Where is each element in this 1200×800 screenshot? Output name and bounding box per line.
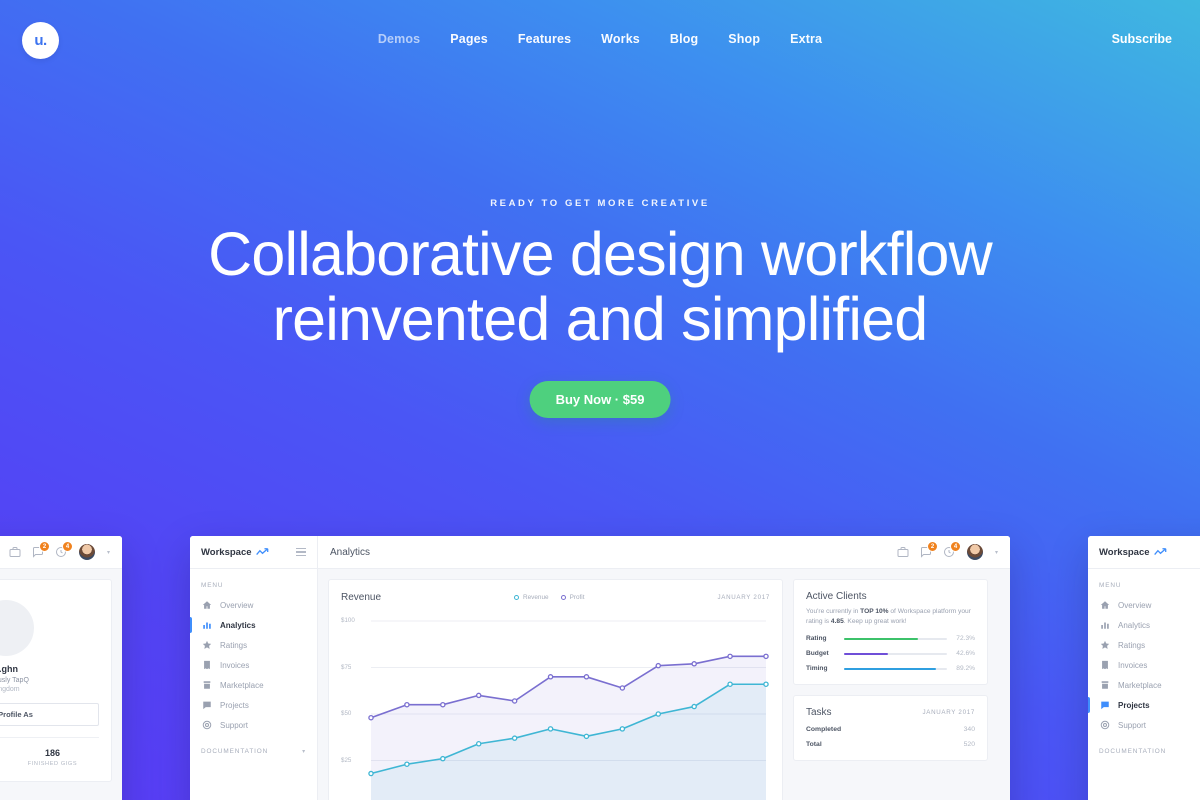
store-icon (201, 680, 212, 691)
bar-chart-icon (1099, 620, 1110, 631)
sidebar-right-section-documentation[interactable]: DOCUMENTATION ▾ (1088, 735, 1200, 761)
legend-profit-label: Profit (570, 594, 585, 601)
page-title: Collaborative design workflow reinvented… (0, 222, 1200, 353)
dashboard-mock-right: Workspace MENU Overview Analytics Rating… (1088, 536, 1200, 800)
revenue-chart-title: Revenue (341, 592, 381, 603)
metric-fill-timing (844, 668, 936, 671)
tasks-date: JANUARY 2017 (922, 709, 975, 716)
invoice-icon (201, 660, 212, 671)
revenue-line-chart: $25$50$75$100 (341, 613, 772, 800)
sidebar-item-marketplace-label: Marketplace (1118, 681, 1162, 690)
active-clients-title: Active Clients (806, 591, 975, 602)
sidebar-item-projects-label: Projects (1118, 701, 1150, 710)
dashboard-page-title: Analytics (330, 547, 370, 558)
lifebuoy-icon (201, 720, 212, 731)
tasks-header: Tasks JANUARY 2017 (806, 707, 975, 718)
tasks-value-total: 520 (964, 741, 975, 748)
sidebar-header: Workspace (190, 536, 317, 569)
left-mock-header: 2 4 ▾ (0, 536, 122, 569)
metric-label-rating: Rating (806, 635, 838, 642)
desc-post: . Keep up great work! (844, 618, 907, 625)
tasks-row-total: Total 520 (806, 741, 975, 748)
metric-fill-rating (844, 638, 918, 641)
nav-item-pages[interactable]: Pages (450, 32, 488, 46)
profile-stats: 4 NTS 186 FINISHED GIGS (0, 737, 99, 767)
sidebar-item-invoices[interactable]: Invoices (190, 655, 317, 675)
y-axis-tick-100: $100 (341, 617, 355, 624)
sidebar-item-overview[interactable]: Overview (190, 595, 317, 615)
sidebar-item-invoices-label: Invoices (220, 661, 249, 670)
sidebar-item-projects-label: Projects (220, 701, 249, 710)
messages-badge: 2 (927, 541, 938, 552)
y-axis-tick-75: $75 (341, 664, 351, 671)
avatar[interactable] (78, 543, 96, 561)
sidebar-item-support[interactable]: Support (1088, 715, 1200, 735)
nav-item-demos[interactable]: Demos (378, 32, 420, 46)
sidebar-item-invoices-label: Invoices (1118, 661, 1147, 670)
legend-dot-profit (561, 595, 566, 600)
metric-row-rating: Rating 72.3% (806, 635, 975, 642)
sidebar-item-ratings[interactable]: Ratings (190, 635, 317, 655)
nav-item-extra[interactable]: Extra (790, 32, 822, 46)
chevron-down-icon: ▾ (302, 748, 306, 755)
chevron-down-icon[interactable]: ▾ (995, 549, 998, 556)
sidebar-item-ratings-label: Ratings (1118, 641, 1145, 650)
tasks-label-completed: Completed (806, 726, 841, 733)
sidebar-item-invoices[interactable]: Invoices (1088, 655, 1200, 675)
sidebar-right-section-menu: MENU (1088, 569, 1200, 595)
buy-now-button[interactable]: Buy Now · $59 (530, 381, 671, 418)
desc-rating: 4.85 (831, 618, 844, 625)
hamburger-menu-icon[interactable] (296, 548, 306, 556)
briefcase-icon[interactable] (9, 546, 21, 558)
dashboard-header: Analytics 2 4 ▾ (318, 536, 1010, 569)
profile-subtitle: ...viously TapQ (0, 677, 99, 684)
metric-label-timing: Timing (806, 665, 838, 672)
store-icon (1099, 680, 1110, 691)
home-icon (201, 600, 212, 611)
sidebar-section-documentation[interactable]: DOCUMENTATION ▾ (190, 735, 317, 761)
nav-item-shop[interactable]: Shop (728, 32, 760, 46)
sidebar-item-overview-label: Overview (1118, 601, 1151, 610)
profile-stat-gigs: 186 FINISHED GIGS (6, 748, 99, 767)
left-mock-header-actions: 2 4 ▾ (9, 543, 110, 561)
trend-up-icon (256, 548, 269, 556)
nav-item-works[interactable]: Works (601, 32, 640, 46)
workspace-brand[interactable]: Workspace (201, 547, 269, 558)
top-navigation-bar: u. Demos Pages Features Works Blog Shop … (0, 0, 1200, 82)
metric-value-budget: 42.6% (953, 650, 975, 657)
dashboard-content: Revenue Revenue Profit JANUARY 2017 (318, 569, 1010, 800)
sidebar-item-overview[interactable]: Overview (1088, 595, 1200, 615)
y-axis-tick-25: $25 (341, 757, 351, 764)
sidebar-right: Workspace MENU Overview Analytics Rating… (1088, 536, 1200, 800)
desc-pre: You're currently in (806, 608, 860, 615)
metric-value-rating: 72.3% (953, 635, 975, 642)
sidebar-item-analytics[interactable]: Analytics (190, 615, 317, 635)
legend-profit[interactable]: Profit (561, 594, 585, 601)
legend-dot-revenue (514, 595, 519, 600)
avatar[interactable] (966, 543, 984, 561)
headline-line-1: Collaborative design workflow (208, 220, 992, 288)
messages-badge: 2 (39, 541, 50, 552)
tasks-title: Tasks (806, 707, 832, 718)
messages-icon[interactable]: 2 (920, 546, 932, 558)
revenue-chart-date: JANUARY 2017 (717, 594, 770, 601)
sidebar-right-section-documentation-label: DOCUMENTATION (1099, 748, 1166, 755)
active-clients-card: Active Clients You're currently in TOP 1… (793, 579, 988, 685)
star-icon (1099, 640, 1110, 651)
sidebar-item-projects[interactable]: Projects (190, 695, 317, 715)
chevron-down-icon[interactable]: ▾ (107, 549, 110, 556)
alerts-badge: 4 (62, 541, 73, 552)
profile-name: ...ghn (0, 664, 99, 674)
legend-revenue[interactable]: Revenue (514, 594, 549, 601)
subscribe-link[interactable]: Subscribe (1112, 32, 1172, 46)
lifebuoy-icon (1099, 720, 1110, 731)
sidebar-item-support[interactable]: Support (190, 715, 317, 735)
chart-legend: Revenue Profit (514, 594, 585, 601)
invoice-icon (1099, 660, 1110, 671)
sidebar-item-marketplace-label: Marketplace (220, 681, 264, 690)
sidebar-item-analytics[interactable]: Analytics (1088, 615, 1200, 635)
briefcase-icon[interactable] (897, 546, 909, 558)
sidebar-right-header: Workspace (1088, 536, 1200, 569)
alerts-icon[interactable]: 4 (943, 546, 955, 558)
metric-fill-budget (844, 653, 888, 656)
view-profile-as-button[interactable]: View Profile As (0, 703, 99, 726)
sidebar-item-analytics-label: Analytics (1118, 621, 1150, 630)
profile-stat-gigs-label: FINISHED GIGS (6, 761, 99, 767)
sidebar-item-projects[interactable]: Projects (1088, 695, 1200, 715)
tasks-value-completed: 340 (964, 726, 975, 733)
metric-value-timing: 89.2% (953, 665, 975, 672)
sidebar-item-support-label: Support (1118, 721, 1146, 730)
metric-track-budget (844, 653, 947, 656)
trend-up-icon (1154, 548, 1167, 556)
chat-icon (1099, 700, 1110, 711)
profile-location: ...ngdom (0, 686, 99, 693)
profile-card: ...ghn ...viously TapQ ...ngdom View Pro… (0, 579, 112, 782)
desc-top: TOP 10% (860, 608, 888, 615)
bar-chart-icon (201, 620, 212, 631)
hero-eyebrow: READY TO GET MORE CREATIVE (0, 198, 1200, 209)
sidebar-item-marketplace[interactable]: Marketplace (1088, 675, 1200, 695)
alerts-icon[interactable]: 4 (55, 546, 67, 558)
nav-item-features[interactable]: Features (518, 32, 571, 46)
legend-revenue-label: Revenue (523, 594, 549, 601)
chat-icon (201, 700, 212, 711)
metric-row-budget: Budget 42.6% (806, 650, 975, 657)
dashboard-mock-left: 2 4 ▾ ...ghn ...viously TapQ ...ngdom (0, 536, 122, 800)
dashboard-main: Analytics 2 4 ▾ (318, 536, 1010, 800)
sidebar-item-overview-label: Overview (220, 601, 253, 610)
tasks-card: Tasks JANUARY 2017 Completed 340 Total 5… (793, 695, 988, 761)
sidebar-item-ratings[interactable]: Ratings (1088, 635, 1200, 655)
star-icon (201, 640, 212, 651)
metric-label-budget: Budget (806, 650, 838, 657)
workspace-brand[interactable]: Workspace (1099, 547, 1167, 558)
home-icon (1099, 600, 1110, 611)
sidebar-section-menu: MENU (190, 569, 317, 595)
dashboard-mock-center: Workspace MENU Overview Analytics Rating… (190, 536, 1010, 800)
sidebar-item-ratings-label: Ratings (220, 641, 247, 650)
profile-stat-gigs-value: 186 (6, 748, 99, 758)
nav-links: Demos Pages Features Works Blog Shop Ext… (0, 32, 1200, 46)
revenue-chart-card: Revenue Revenue Profit JANUARY 2017 (328, 579, 783, 800)
revenue-chart-header: Revenue Revenue Profit JANUARY 2017 (341, 592, 770, 603)
metric-track-rating (844, 638, 947, 641)
profile-avatar (0, 600, 34, 656)
dashboard-header-actions: 2 4 ▾ (897, 543, 998, 561)
alerts-badge: 4 (950, 541, 961, 552)
right-column: Active Clients You're currently in TOP 1… (793, 579, 988, 800)
active-clients-description: You're currently in TOP 10% of Workspace… (806, 607, 975, 627)
tasks-label-total: Total (806, 741, 822, 748)
y-axis-tick-50: $50 (341, 710, 351, 717)
workspace-brand-label: Workspace (1099, 547, 1150, 558)
sidebar-item-marketplace[interactable]: Marketplace (190, 675, 317, 695)
nav-item-blog[interactable]: Blog (670, 32, 698, 46)
sidebar-item-analytics-label: Analytics (220, 621, 256, 630)
sidebar: Workspace MENU Overview Analytics Rating… (190, 536, 318, 800)
workspace-brand-label: Workspace (201, 547, 252, 558)
headline-line-2: reinvented and simplified (0, 287, 1200, 352)
messages-icon[interactable]: 2 (32, 546, 44, 558)
tasks-row-completed: Completed 340 (806, 726, 975, 733)
sidebar-section-documentation-label: DOCUMENTATION (201, 748, 268, 755)
sidebar-item-support-label: Support (220, 721, 248, 730)
metric-row-timing: Timing 89.2% (806, 665, 975, 672)
metric-track-timing (844, 668, 947, 671)
hero-section: u. Demos Pages Features Works Blog Shop … (0, 0, 1200, 800)
